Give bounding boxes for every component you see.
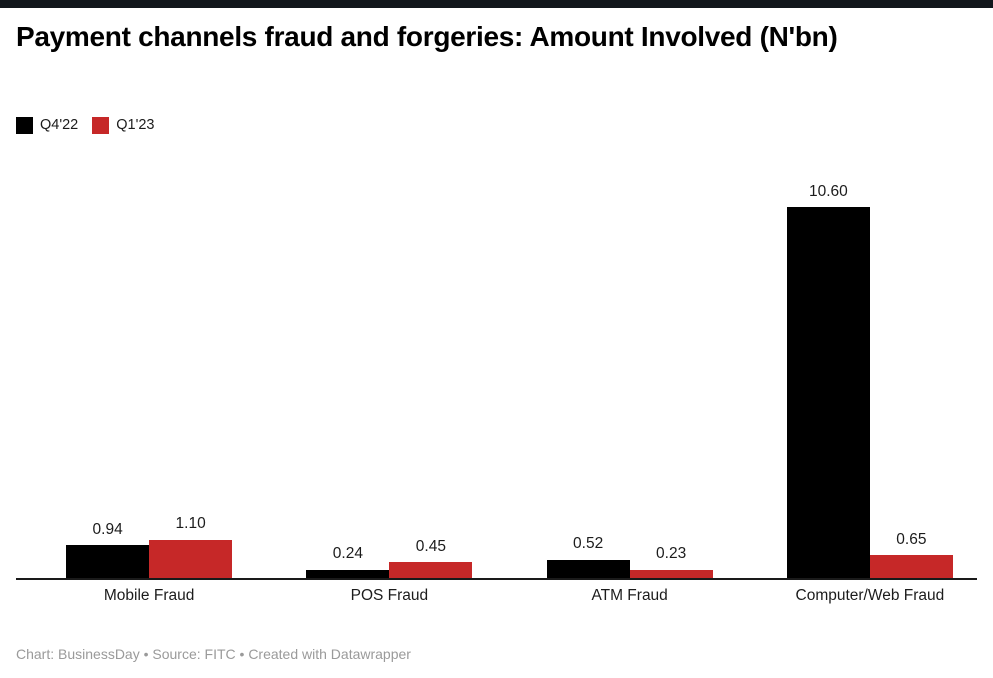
x-axis-category-labels: Mobile FraudPOS FraudATM FraudComputer/W… — [16, 588, 977, 612]
bar-value-label: 0.52 — [547, 536, 630, 552]
legend-item-q123[interactable]: Q1'23 — [92, 117, 154, 134]
bar-Q422-POSFraud[interactable] — [306, 570, 389, 578]
bar-Q422-ATMFraud[interactable] — [547, 560, 630, 578]
chart-credit-footer: Chart: BusinessDay • Source: FITC • Crea… — [16, 646, 411, 663]
bar-value-label: 0.45 — [389, 539, 472, 555]
chart-legend: Q4'22 Q1'23 — [16, 117, 155, 134]
bar-value-label: 1.10 — [149, 516, 232, 532]
legend-label-q123: Q1'23 — [116, 118, 154, 133]
category-label-MobileFraud: Mobile Fraud — [36, 588, 262, 604]
legend-item-q422[interactable]: Q4'22 — [16, 117, 78, 134]
bar-group: 0.941.10 — [66, 160, 232, 578]
chart-page: Payment channels fraud and forgeries: Am… — [0, 0, 993, 678]
legend-swatch-q422-icon — [16, 117, 33, 134]
bar-group: 0.240.45 — [306, 160, 472, 578]
category-label-ComputerWebFraud: Computer/Web Fraud — [757, 588, 983, 604]
bar-value-label: 0.65 — [870, 532, 953, 548]
bar-chart-plot-area: 0.941.100.240.450.520.2310.600.65 — [16, 160, 977, 578]
bar-value-label: 0.94 — [66, 522, 149, 538]
bar-value-label: 0.24 — [306, 546, 389, 562]
bar-Q123-MobileFraud[interactable] — [149, 540, 232, 579]
bar-Q422-MobileFraud[interactable] — [66, 545, 149, 578]
bar-group: 10.600.65 — [787, 160, 953, 578]
bar-Q422-ComputerWebFraud[interactable] — [787, 207, 870, 578]
top-dark-band — [0, 0, 993, 8]
category-label-ATMFraud: ATM Fraud — [517, 588, 743, 604]
page-title: Payment channels fraud and forgeries: Am… — [16, 20, 946, 53]
bar-Q123-POSFraud[interactable] — [389, 562, 472, 578]
bar-Q123-ComputerWebFraud[interactable] — [870, 555, 953, 578]
bar-Q123-ATMFraud[interactable] — [630, 570, 713, 578]
legend-swatch-q123-icon — [92, 117, 109, 134]
category-label-POSFraud: POS Fraud — [276, 588, 502, 604]
legend-label-q422: Q4'22 — [40, 118, 78, 133]
bar-value-label: 0.23 — [630, 546, 713, 562]
bar-group: 0.520.23 — [547, 160, 713, 578]
x-axis-baseline — [16, 578, 977, 580]
bar-value-label: 10.60 — [787, 184, 870, 200]
